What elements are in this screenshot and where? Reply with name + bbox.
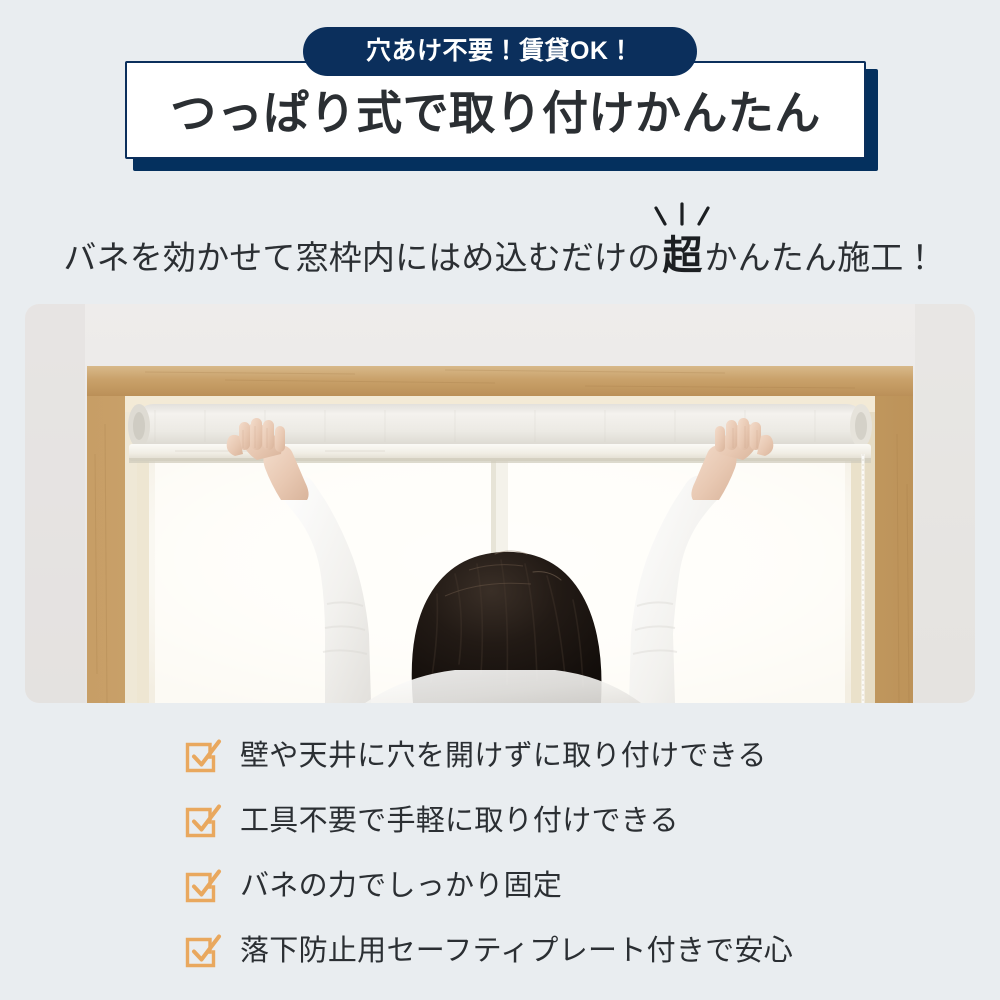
subtitle-text-before: バネを効かせて窓枠内にはめ込むだけの [63,241,660,274]
feature-label: バネの力でしっかり固定 [240,872,562,901]
checkbox-checked-icon [183,930,223,970]
checkbox-checked-icon [183,865,223,905]
status-badge-label: 穴あけ不要！賃貸OK！ [366,39,634,64]
subtitle-text-after: かんたん施工！ [704,241,936,274]
list-item: 工具不要で手軽に取り付けできる [183,797,679,843]
subtitle-emphasis-group: 超 [662,236,702,276]
feature-label: 工具不要で手軽に取り付けできる [240,807,679,836]
subtitle-emphasis-char: 超 [662,236,702,276]
product-photo [25,304,975,703]
status-badge: 穴あけ不要！賃貸OK！ [303,27,697,76]
feature-label: 壁や天井に穴を開けずに取り付けできる [240,742,767,771]
page-title: つっぱり式で取り付けかんたん [170,90,820,136]
subtitle: バネを効かせて窓枠内にはめ込むだけの 超 かんたん施工！ [63,236,936,276]
feature-label: 落下防止用セーフティプレート付きで安心 [240,937,793,966]
feature-list: 壁や天井に穴を開けずに取り付けできる 工具不要で手軽に取り付けできる バネの力で… [0,712,1000,1000]
list-item: 落下防止用セーフティプレート付きで安心 [183,927,793,973]
list-item: バネの力でしっかり固定 [183,862,562,908]
sparkle-lines-icon [650,202,714,232]
list-item: 壁や天井に穴を開けずに取り付けできる [183,732,767,778]
subtitle-row: バネを効かせて窓枠内にはめ込むだけの 超 かんたん施工！ [0,196,1000,288]
checkbox-checked-icon [183,800,223,840]
header-block: つっぱり式で取り付けかんたん 穴あけ不要！賃貸OK！ [0,0,1000,185]
checkbox-checked-icon [183,735,223,775]
